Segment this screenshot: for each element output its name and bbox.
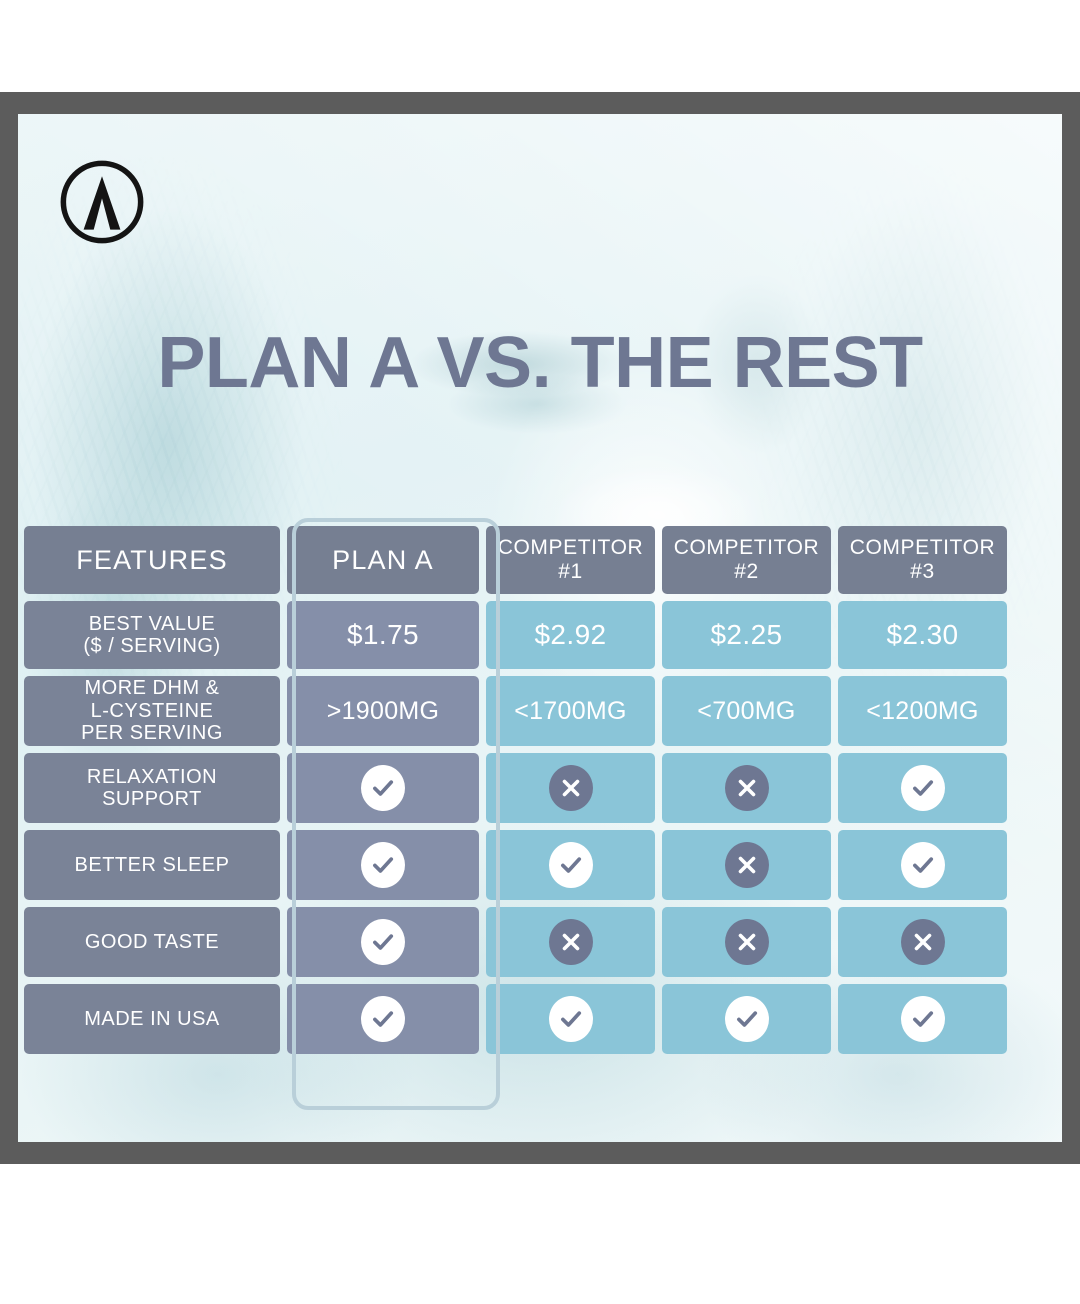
cell-better-sleep-competitor-3 <box>838 830 1007 900</box>
cell-dhm-competitor-2: <700MG <box>662 676 831 746</box>
feature-label-relaxation-support: RELAXATION SUPPORT <box>24 753 280 823</box>
table-row: MADE IN USA <box>24 984 1056 1054</box>
cell-better-sleep-competitor-1 <box>486 830 655 900</box>
check-icon <box>361 919 405 965</box>
table-header-row: FEATURES PLAN A COMPETITOR #1 COMPETITOR… <box>24 526 1056 594</box>
feature-line: L-CYSTEINE <box>81 700 223 722</box>
cell-best-value-competitor-2: $2.25 <box>662 601 831 669</box>
table-row: MORE DHM & L-CYSTEINE PER SERVING >1900M… <box>24 676 1056 746</box>
table-row: BEST VALUE ($ / SERVING) $1.75 $2.92 $2.… <box>24 601 1056 669</box>
cell-best-value-plan-a: $1.75 <box>287 601 479 669</box>
cross-icon <box>725 765 769 811</box>
feature-line: PER SERVING <box>81 722 223 744</box>
column-header-competitor-1: COMPETITOR #1 <box>486 526 655 594</box>
check-icon <box>901 765 945 811</box>
check-icon <box>725 996 769 1042</box>
cell-better-sleep-plan-a <box>287 830 479 900</box>
cell-relaxation-plan-a <box>287 753 479 823</box>
check-icon <box>361 842 405 888</box>
competitor-2-name: COMPETITOR <box>674 536 820 560</box>
column-header-features: FEATURES <box>24 526 280 594</box>
cell-dhm-competitor-3: <1200MG <box>838 676 1007 746</box>
column-header-competitor-3: COMPETITOR #3 <box>838 526 1007 594</box>
check-icon <box>901 842 945 888</box>
cell-good-taste-competitor-1 <box>486 907 655 977</box>
poster-canvas: PLAN A VS. THE REST FEATURES PLAN A COMP… <box>18 114 1062 1142</box>
feature-line: BEST VALUE <box>83 613 220 635</box>
cross-icon <box>549 919 593 965</box>
competitor-3-number: #3 <box>850 560 996 584</box>
comparison-table: FEATURES PLAN A COMPETITOR #1 COMPETITOR… <box>24 526 1056 1061</box>
cell-best-value-competitor-3: $2.30 <box>838 601 1007 669</box>
cell-good-taste-competitor-2 <box>662 907 831 977</box>
cross-icon <box>549 765 593 811</box>
table-row: GOOD TASTE <box>24 907 1056 977</box>
feature-label-more-dhm-l-cysteine: MORE DHM & L-CYSTEINE PER SERVING <box>24 676 280 746</box>
cell-relaxation-competitor-1 <box>486 753 655 823</box>
feature-line: SUPPORT <box>87 788 217 810</box>
table-row: BETTER SLEEP <box>24 830 1056 900</box>
lambda-circle-logo <box>56 156 148 248</box>
cross-icon <box>725 919 769 965</box>
cell-made-in-usa-competitor-3 <box>838 984 1007 1054</box>
feature-label-best-value: BEST VALUE ($ / SERVING) <box>24 601 280 669</box>
cell-better-sleep-competitor-2 <box>662 830 831 900</box>
check-icon <box>549 842 593 888</box>
feature-line: MORE DHM & <box>81 677 223 699</box>
table-row: RELAXATION SUPPORT <box>24 753 1056 823</box>
feature-line: ($ / SERVING) <box>83 635 220 657</box>
cell-made-in-usa-competitor-2 <box>662 984 831 1054</box>
competitor-1-number: #1 <box>498 560 644 584</box>
check-icon <box>361 765 405 811</box>
cell-relaxation-competitor-2 <box>662 753 831 823</box>
feature-label-made-in-usa: MADE IN USA <box>24 984 280 1054</box>
check-icon <box>901 996 945 1042</box>
cross-icon <box>901 919 945 965</box>
competitor-1-name: COMPETITOR <box>498 536 644 560</box>
page-title: PLAN A VS. THE REST <box>18 322 1062 404</box>
cell-made-in-usa-competitor-1 <box>486 984 655 1054</box>
cell-made-in-usa-plan-a <box>287 984 479 1054</box>
cell-relaxation-competitor-3 <box>838 753 1007 823</box>
cell-good-taste-competitor-3 <box>838 907 1007 977</box>
feature-label-better-sleep: BETTER SLEEP <box>24 830 280 900</box>
cell-dhm-competitor-1: <1700MG <box>486 676 655 746</box>
cell-best-value-competitor-1: $2.92 <box>486 601 655 669</box>
poster-frame: PLAN A VS. THE REST FEATURES PLAN A COMP… <box>0 92 1080 1164</box>
check-icon <box>549 996 593 1042</box>
column-header-competitor-2: COMPETITOR #2 <box>662 526 831 594</box>
competitor-2-number: #2 <box>674 560 820 584</box>
check-icon <box>361 996 405 1042</box>
cell-dhm-plan-a: >1900MG <box>287 676 479 746</box>
cell-good-taste-plan-a <box>287 907 479 977</box>
cross-icon <box>725 842 769 888</box>
feature-line: RELAXATION <box>87 766 217 788</box>
column-header-plan-a: PLAN A <box>287 526 479 594</box>
competitor-3-name: COMPETITOR <box>850 536 996 560</box>
feature-label-good-taste: GOOD TASTE <box>24 907 280 977</box>
